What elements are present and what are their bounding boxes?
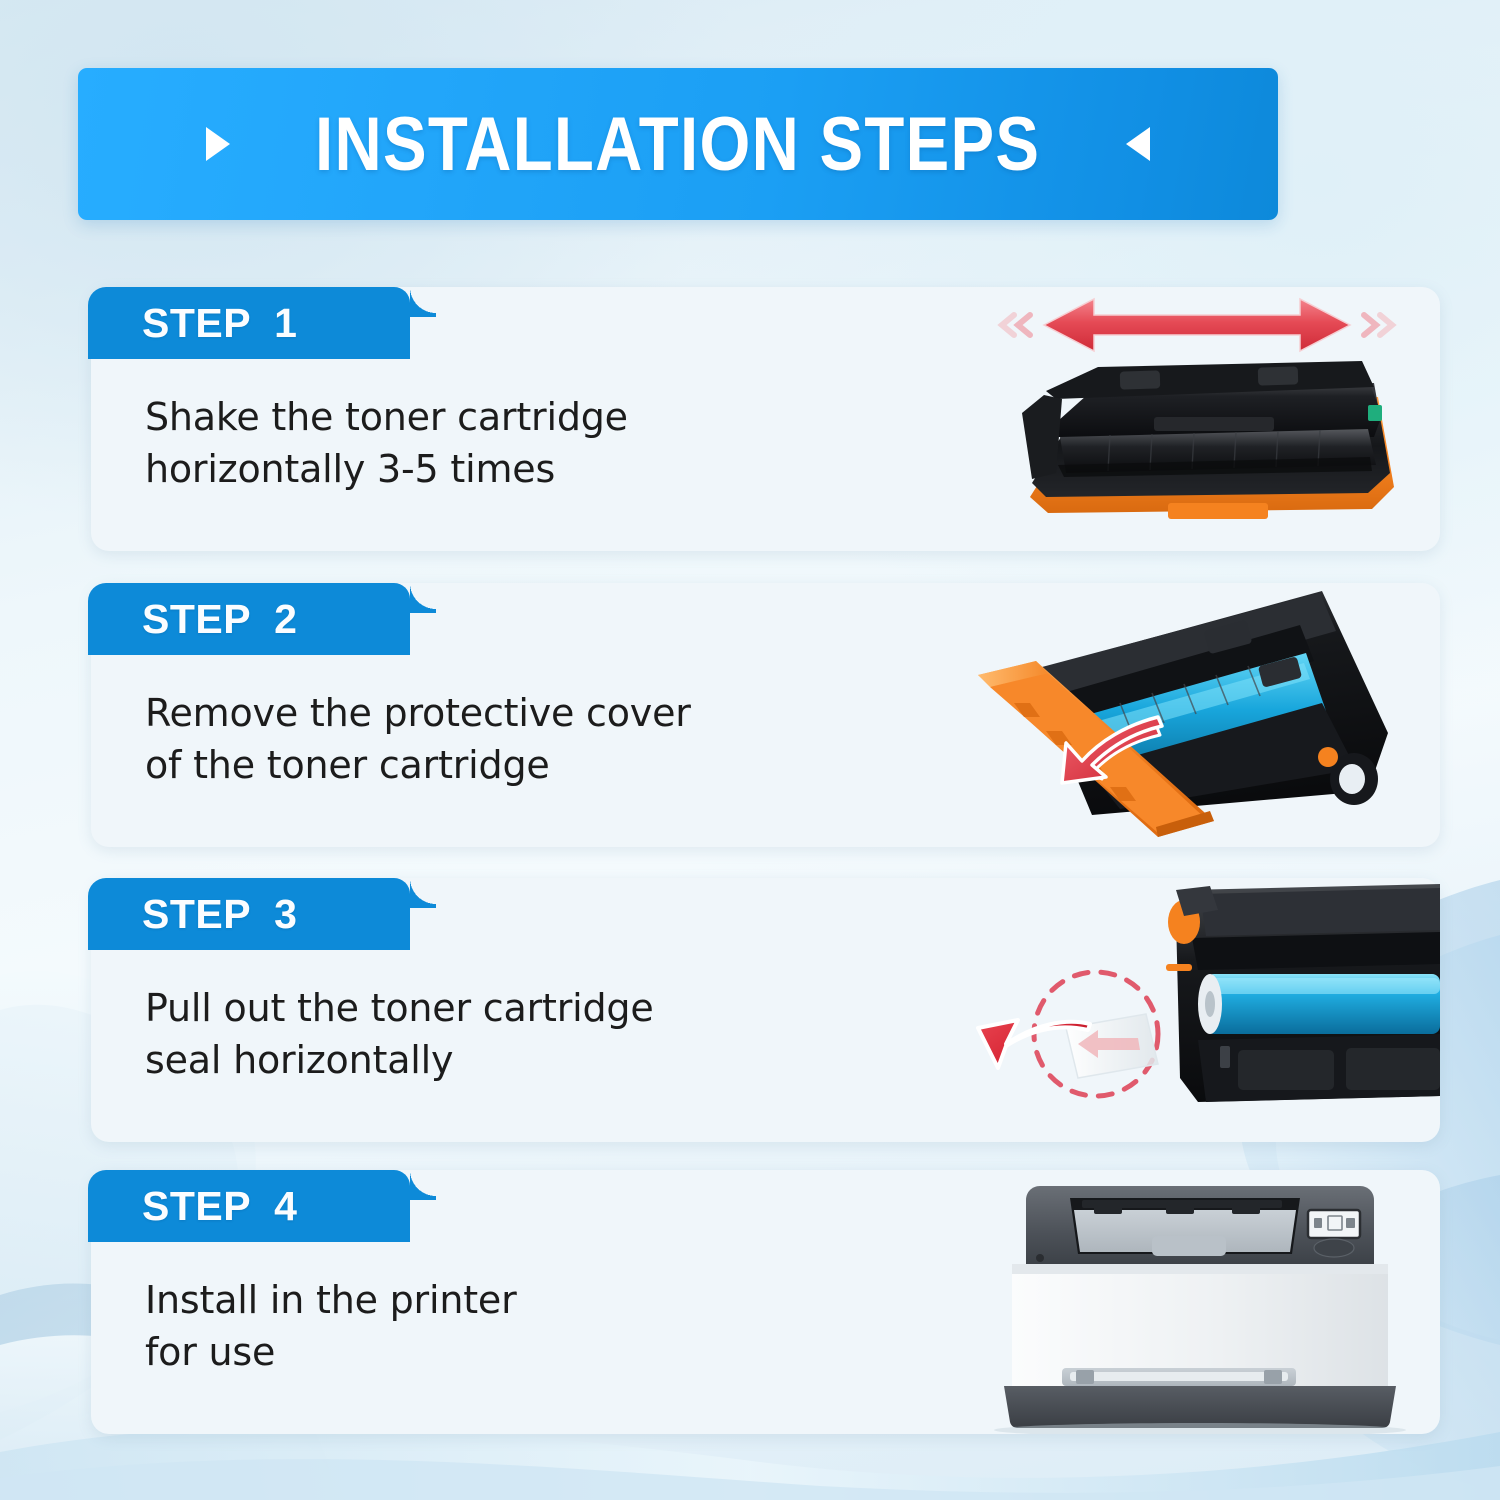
double-headed-arrow-icon (1044, 299, 1350, 351)
step-label-2: STEP 2 (142, 596, 297, 643)
toner-cartridge-graphic (1038, 591, 1388, 815)
orange-gear-icon (1318, 747, 1338, 767)
step-card-4: STEP 4 Install in the printer for use (91, 1170, 1440, 1434)
page-title: INSTALLATION STEPS (315, 101, 1040, 188)
printer-base (1004, 1386, 1396, 1428)
header-banner: INSTALLATION STEPS (78, 68, 1278, 220)
orange-tab-icon (1166, 964, 1192, 971)
illustration-laser-printer (970, 1170, 1440, 1434)
step-label-4: STEP 4 (142, 1183, 297, 1230)
step-tab-4: STEP 4 (88, 1170, 410, 1242)
step-label-3: STEP 3 (142, 891, 297, 938)
triangle-left-icon (1126, 127, 1150, 161)
green-chip-icon (1368, 405, 1382, 421)
triangle-right-icon (206, 127, 230, 161)
power-button (1314, 1239, 1354, 1257)
step-label-1: STEP 1 (142, 300, 297, 347)
step-card-3: STEP 3 Pull out the toner cartridge seal… (91, 878, 1440, 1142)
step-text-3: Pull out the toner cartridge seal horizo… (145, 982, 965, 1087)
toner-cartridge-graphic (1022, 361, 1394, 519)
step-card-2: STEP 2 Remove the protective cover of th… (91, 583, 1440, 847)
toner-cartridge-graphic (1166, 884, 1440, 1102)
step-tab-3: STEP 3 (88, 878, 410, 950)
step-tab-1: STEP 1 (88, 287, 410, 359)
illustration-toner-cartridge-shake (970, 287, 1440, 551)
tray-handle (1152, 1236, 1226, 1256)
step-tab-2: STEP 2 (88, 583, 410, 655)
step-text-1: Shake the toner cartridge horizontally 3… (145, 391, 965, 496)
step-text-4: Install in the printer for use (145, 1274, 965, 1379)
illustration-pull-seal (970, 878, 1440, 1142)
control-panel (1308, 1210, 1360, 1257)
illustration-remove-protective-cover (970, 583, 1440, 847)
step-text-2: Remove the protective cover of the toner… (145, 687, 965, 792)
step-card-1: STEP 1 Shake the toner cartridge horizon… (91, 287, 1440, 551)
status-led-icon (1036, 1254, 1044, 1262)
